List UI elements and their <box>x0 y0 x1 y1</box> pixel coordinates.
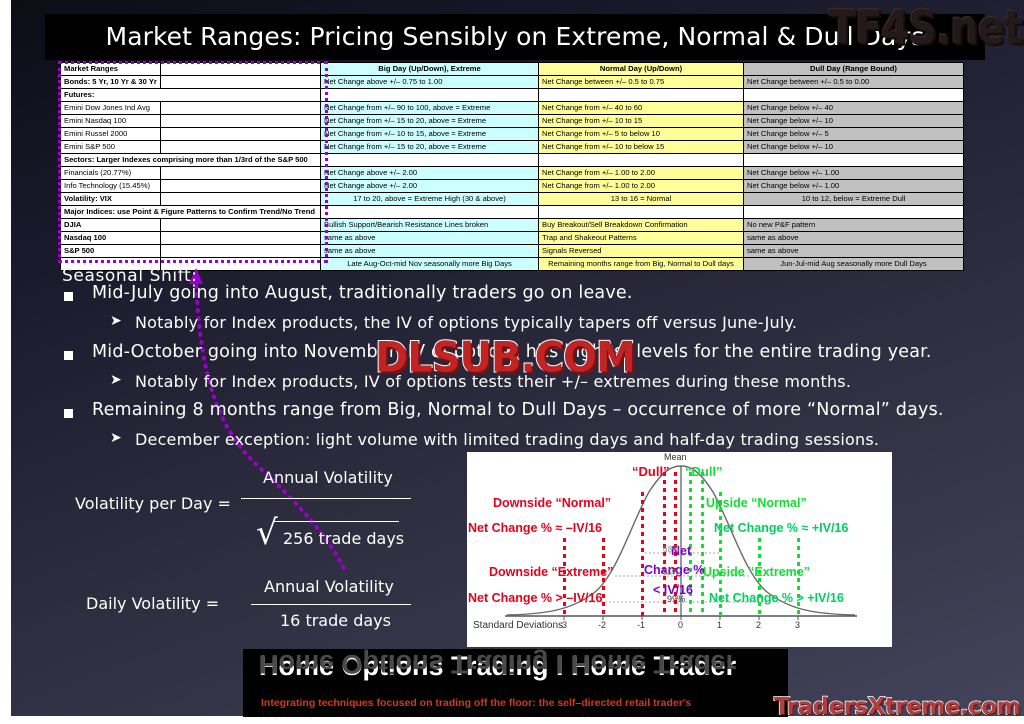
table-cell-norm: Net Change from +/– 5 to below 10 <box>539 128 744 141</box>
table-header-0: Market Ranges <box>61 63 161 76</box>
table-row-blank <box>161 180 321 193</box>
bullet-text-1: Mid-July going into August, traditionall… <box>92 283 633 303</box>
formula-1-denominator: 256 trade days <box>283 529 404 548</box>
table-cell-dull: 10 to 12, below = Extreme Dull <box>744 193 964 206</box>
formula-1-lhs: Volatility per Day = <box>75 494 231 513</box>
table-row-label: Emini Russel 2000 <box>61 128 161 141</box>
table-footer-norm: Remaining months range from Big, Normal … <box>539 258 744 271</box>
table-row-blank <box>161 115 321 128</box>
table-row: S&P 500 same as aboveSignals Reversedsam… <box>61 245 964 258</box>
table-cell-big: Net Change from +/– 10 to 15, above = Ex… <box>321 128 539 141</box>
x-tick-2: 2 <box>756 620 761 630</box>
table-row-blank <box>161 193 321 206</box>
table-row-blank <box>161 76 321 89</box>
table-header-3: Normal Day (Up/Down) <box>539 63 744 76</box>
table-cell-big: Net Change from +/– 15 to 20, above = Ex… <box>321 141 539 154</box>
table-row: Info Technology (15.45%) Net Change abov… <box>61 180 964 193</box>
formula-1-numerator: Annual Volatility <box>263 468 393 487</box>
x-tick--3: -3 <box>559 620 567 630</box>
table-cell-big: Bullish Support/Bearish Resistance Lines… <box>321 219 539 232</box>
table-row-blank <box>161 245 321 258</box>
table-cell-norm: Net Change from +/– 1.00 to 2.00 <box>539 167 744 180</box>
table-cell-norm: Net Change from +/– 1.00 to 2.00 <box>539 180 744 193</box>
marker-green-dull <box>701 472 704 616</box>
label-upside-extreme-formula: Net Change % > +IV/16 <box>709 591 844 605</box>
table-row: Emini S&P 500 Net Change from +/– 15 to … <box>61 141 964 154</box>
table-section-spacer-2 <box>744 89 964 102</box>
table-cell-big: same as above <box>321 232 539 245</box>
x-tick-0: 0 <box>678 620 683 630</box>
table-cell-big: 17 to 20, above = Extreme High (30 & abo… <box>321 193 539 206</box>
formula-2-fraction-bar <box>251 604 411 605</box>
sub-bullet-text-1: Notably for Index products, the IV of op… <box>135 313 797 332</box>
sub-bullet-text-3: December exception: light volume with li… <box>135 430 879 449</box>
table-header-4: Dull Day (Range Bound) <box>744 63 964 76</box>
table-section-spacer-2 <box>744 154 964 167</box>
table-cell-norm: 13 to 16 = Normal <box>539 193 744 206</box>
table-cell-norm: Buy Breakout/Sell Breakdown Confirmation <box>539 219 744 232</box>
table-section-label: Sectors: Larger Indexes comprising more … <box>61 154 321 167</box>
table-row-label: DJIA <box>61 219 161 232</box>
table-row: Emini Nasdaq 100 Net Change from +/– 15 … <box>61 115 964 128</box>
table-cell-big: same as above <box>321 245 539 258</box>
table-cell-norm: Signals Reversed <box>539 245 744 258</box>
formula-1-radical-bar <box>274 521 399 522</box>
table-row-blank <box>161 167 321 180</box>
watermark-bottom-right: TradersXtreme.com <box>774 694 1020 720</box>
label-downside-normal: Downside “Normal” <box>493 496 611 510</box>
table-cell-norm: Net Change from +/– 10 to 15 <box>539 115 744 128</box>
slide-root: Market Ranges: Pricing Sensibly on Extre… <box>0 0 1024 724</box>
table-section-spacer-0 <box>321 89 539 102</box>
table-row: Major Indices: use Point & Figure Patter… <box>61 206 964 219</box>
watermark-center: DLSUB.COM <box>375 334 635 382</box>
label-dull-up: “Dull” <box>685 464 723 479</box>
table-cell-dull: No new P&F pattern <box>744 219 964 232</box>
table-row: DJIA Bullish Support/Bearish Resistance … <box>61 219 964 232</box>
table-cell-norm: Net Change from +/– 40 to 60 <box>539 102 744 115</box>
mean-label: Mean <box>664 452 687 462</box>
table-section-spacer-0 <box>321 206 539 219</box>
table-cell-big: Net Change above +/– 2.00 <box>321 167 539 180</box>
table-row: Nasdaq 100 same as aboveTrap and Shakeou… <box>61 232 964 245</box>
table-cell-norm: Trap and Shakeout Patterns <box>539 232 744 245</box>
table-cell-dull: same as above <box>744 232 964 245</box>
band-99-label: 99% <box>667 594 685 604</box>
market-ranges-table: Market RangesBig Day (Up/Down), ExtremeN… <box>60 62 964 271</box>
table-cell-dull: Net Change below +/– 10 <box>744 115 964 128</box>
table-cell-dull: Net Change below +/– 1.00 <box>744 180 964 193</box>
table-footer-dull: Jun-Jul-mid Aug seasonally more Dull Day… <box>744 258 964 271</box>
formula-1-fraction-bar <box>241 498 411 499</box>
formula-2-numerator: Annual Volatility <box>264 577 394 596</box>
label-upside-normal-formula: Net Change % ≈ +IV/16 <box>714 521 848 535</box>
table-section-label: Major Indices: use Point & Figure Patter… <box>61 206 321 219</box>
table-row-blank <box>161 128 321 141</box>
table-row: Sectors: Larger Indexes comprising more … <box>61 154 964 167</box>
table-row-label: Volatility: VIX <box>61 193 161 206</box>
banner-title-reflection: Home Options Trading I Home Trader <box>259 649 736 679</box>
label-upside-normal: Upside “Normal” <box>706 496 807 510</box>
table-row-label: Nasdaq 100 <box>61 232 161 245</box>
table-cell-big: Net Change from +/– 90 to 100, above = E… <box>321 102 539 115</box>
table-row-blank <box>161 219 321 232</box>
x-tick--1: -1 <box>637 620 645 630</box>
table-section-spacer-1 <box>539 89 744 102</box>
label-dull-down: “Dull” <box>632 464 670 479</box>
table-row-blank <box>161 102 321 115</box>
sqrt-icon: √ <box>256 513 278 553</box>
table-cell-norm: Net Change from +/– 10 to below 15 <box>539 141 744 154</box>
label-upside-extreme: Upside “Extreme” <box>703 565 810 579</box>
table-cell-dull: same as above <box>744 245 964 258</box>
table-header-row: Market RangesBig Day (Up/Down), ExtremeN… <box>61 63 964 76</box>
x-tick-1: 1 <box>717 620 722 630</box>
table-row: Financials (20.77%) Net Change above +/–… <box>61 167 964 180</box>
watermark-top-right: TF4S.net <box>829 2 1022 55</box>
table-row-label: Info Technology (15.45%) <box>61 180 161 193</box>
bottom-banner: Home Options Trading I Home Trader Home … <box>243 649 788 717</box>
table-section-label: Futures: <box>61 89 321 102</box>
table-section-spacer-0 <box>321 154 539 167</box>
banner-tagline: Integrating techniques focused on tradin… <box>261 697 691 709</box>
table-footer-big: Late Aug-Oct-mid Nov seasonally more Big… <box>321 258 539 271</box>
table-row-label: Emini Dow Jones Ind Avg <box>61 102 161 115</box>
label-downside-normal-formula: Net Change % ≈ –IV/16 <box>468 521 602 535</box>
label-downside-extreme-formula: Net Change % > –IV/16 <box>468 591 602 605</box>
table-header-1 <box>161 63 321 76</box>
sub-bullet-marker-3: ➤ <box>110 430 122 446</box>
table-header-2: Big Day (Up/Down), Extreme <box>321 63 539 76</box>
table-row: Emini Dow Jones Ind Avg Net Change from … <box>61 102 964 115</box>
formula-2-denominator: 16 trade days <box>280 611 391 630</box>
market-ranges-table-wrap: Market RangesBig Day (Up/Down), ExtremeN… <box>60 62 963 271</box>
table-cell-dull: Net Change below +/– 5 <box>744 128 964 141</box>
table-section-spacer-1 <box>539 206 744 219</box>
formula-2-lhs: Daily Volatility = <box>86 594 219 613</box>
table-section-spacer-2 <box>744 206 964 219</box>
table-cell-big: Net Change from +/– 15 to 20, above = Ex… <box>321 115 539 128</box>
table-row-label: S&P 500 <box>61 245 161 258</box>
marker-red-sd1 <box>641 492 644 616</box>
band-95-label: 95% <box>663 568 679 577</box>
table-cell-dull: Net Change between +/– 0.5 to 0.00 <box>744 76 964 89</box>
band-68-label: 68% <box>663 545 679 554</box>
sub-bullet-marker-1: ➤ <box>110 313 122 329</box>
bullet-marker-1 <box>64 292 73 301</box>
table-section-spacer-1 <box>539 154 744 167</box>
table-row-blank <box>161 141 321 154</box>
table-row-label: Emini Nasdaq 100 <box>61 115 161 128</box>
table-row: Bonds: 5 Yr, 10 Yr & 30 Yr Net Change ab… <box>61 76 964 89</box>
table-cell-big: Net Change above +/– 0.75 to 1.00 <box>321 76 539 89</box>
x-axis-title: Standard Deviations <box>473 620 563 631</box>
bullet-text-3: Remaining 8 months range from Big, Norma… <box>92 400 944 420</box>
bullet-marker-3 <box>64 409 73 418</box>
x-tick-3: 3 <box>795 620 800 630</box>
table-cell-dull: Net Change below +/– 1.00 <box>744 167 964 180</box>
table-row: Futures: <box>61 89 964 102</box>
bullet-marker-2 <box>64 351 73 360</box>
table-row: Emini Russel 2000 Net Change from +/– 10… <box>61 128 964 141</box>
table-row-label: Bonds: 5 Yr, 10 Yr & 30 Yr <box>61 76 161 89</box>
table-row-label: Financials (20.77%) <box>61 167 161 180</box>
table-row-blank <box>161 232 321 245</box>
table-row: Volatility: VIX 17 to 20, above = Extrem… <box>61 193 964 206</box>
table-cell-dull: Net Change below +/– 40 <box>744 102 964 115</box>
table-cell-big: Net Change above +/– 2.00 <box>321 180 539 193</box>
table-cell-dull: Net Change below +/– 10 <box>744 141 964 154</box>
bell-curve-chart: Mean “Dull” “Dull” Downside “Normal” Net… <box>467 452 892 647</box>
table-row-label: Emini S&P 500 <box>61 141 161 154</box>
table-cell-norm: Net Change between +/– 0.5 to 0.75 <box>539 76 744 89</box>
label-downside-extreme: Downside “Extreme” <box>489 565 613 579</box>
x-tick--2: -2 <box>598 620 606 630</box>
sub-bullet-marker-2: ➤ <box>110 372 122 388</box>
